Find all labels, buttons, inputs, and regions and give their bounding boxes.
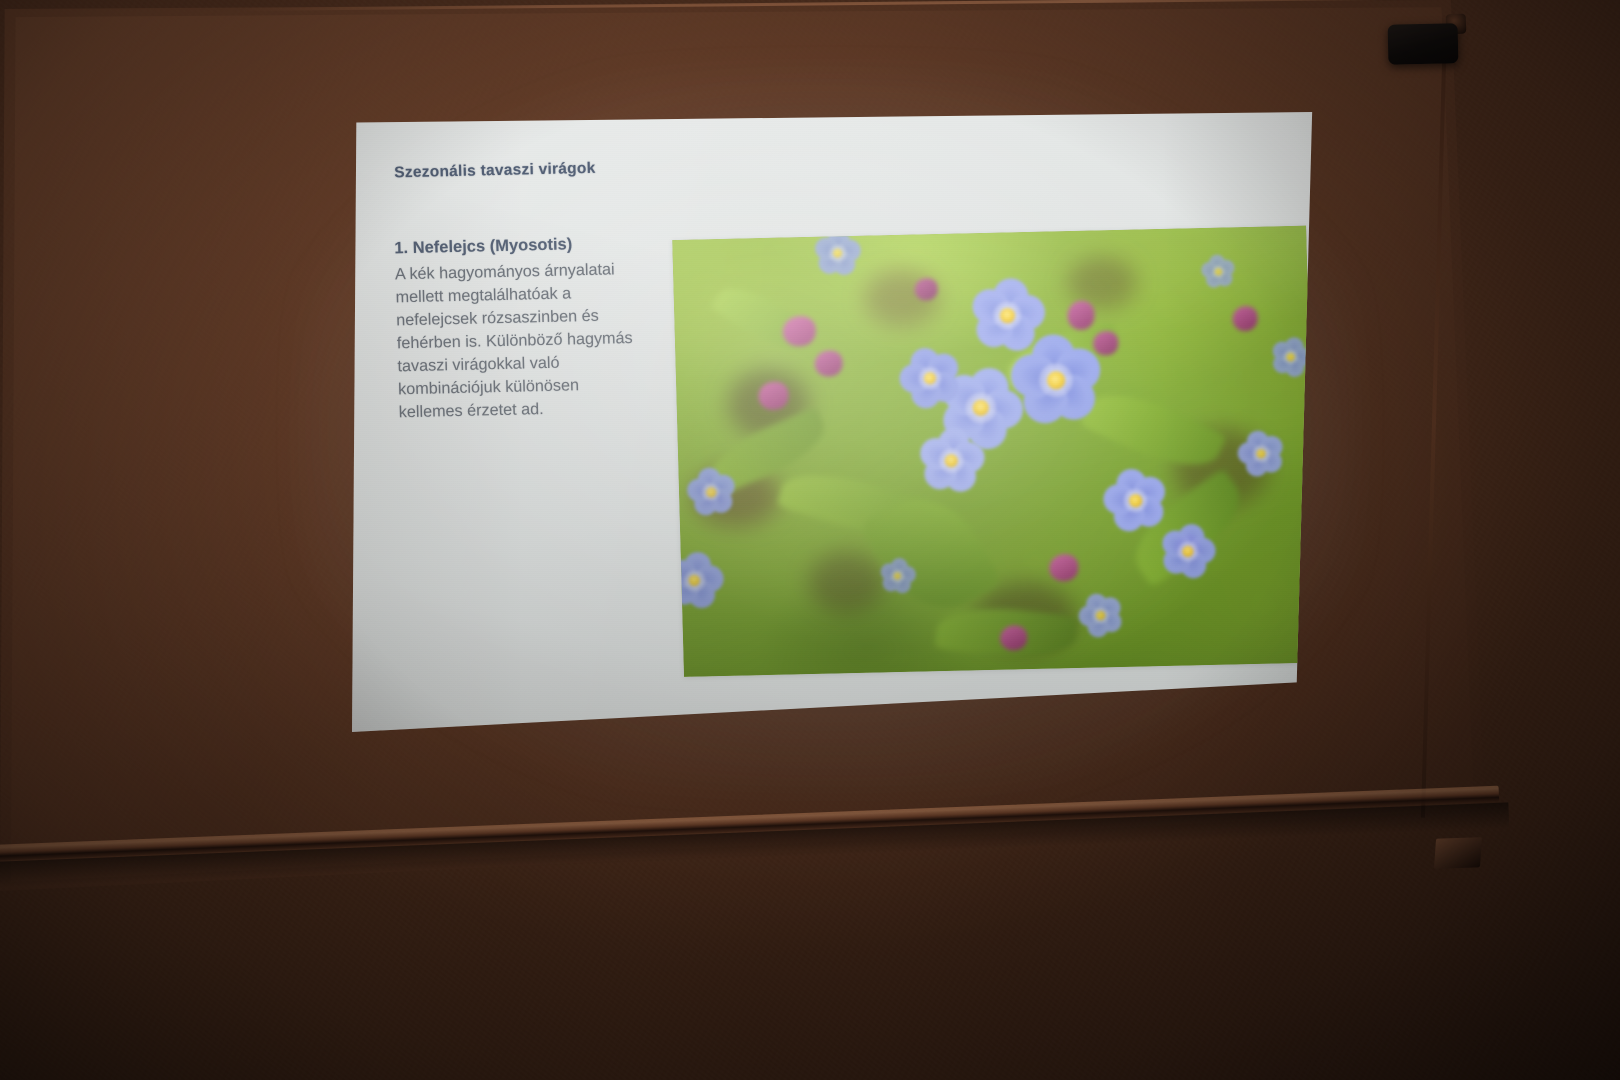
flower-bud bbox=[1067, 300, 1094, 329]
forget-me-not-flower bbox=[878, 557, 917, 596]
projected-slide-scene: Szezonális tavaszi virágok 1. Nefelejcs … bbox=[0, 0, 1620, 1080]
flower-bud bbox=[914, 278, 937, 301]
slide-photo bbox=[672, 226, 1318, 677]
flower-bud bbox=[782, 316, 816, 347]
projected-slide: Szezonális tavaszi virágok 1. Nefelejcs … bbox=[352, 112, 1316, 732]
item-heading: 1. Nefelejcs (Myosotis) bbox=[394, 233, 643, 260]
flower-bud bbox=[759, 382, 789, 411]
flower-bud bbox=[1232, 305, 1258, 331]
forget-me-not-flower bbox=[672, 549, 725, 612]
slide-content: Szezonális tavaszi virágok 1. Nefelejcs … bbox=[351, 91, 1332, 733]
flower-photograph bbox=[672, 226, 1318, 677]
forget-me-not-flower bbox=[1008, 332, 1105, 428]
flower-bud bbox=[1000, 625, 1027, 650]
flower-bud bbox=[1093, 330, 1118, 355]
board-eraser-icon bbox=[1388, 23, 1459, 64]
slide-title: Szezonális tavaszi virágok bbox=[394, 160, 596, 183]
forget-me-not-flower bbox=[1201, 253, 1237, 289]
forget-me-not-flower bbox=[814, 230, 861, 277]
slide-text-column: 1. Nefelejcs (Myosotis) A kék hagyományo… bbox=[394, 233, 647, 425]
forget-me-not-flower bbox=[684, 466, 737, 519]
pen-tray-end-cap bbox=[1434, 837, 1482, 869]
flower-bud bbox=[815, 350, 844, 377]
forget-me-not-flower bbox=[917, 427, 986, 496]
item-body-text: A kék hagyományos árnyalatai mellett meg… bbox=[395, 258, 647, 425]
flower-center bbox=[1215, 268, 1223, 276]
